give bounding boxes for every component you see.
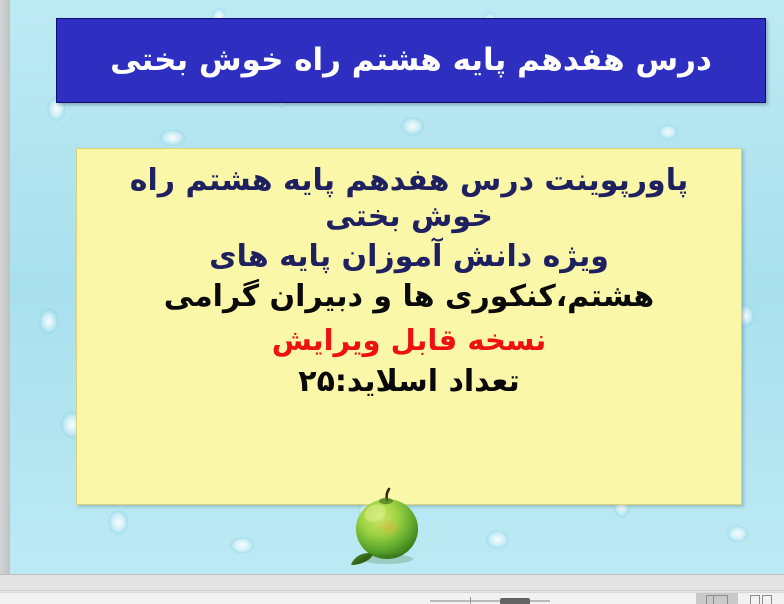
slide[interactable]: درس هفدهم پایه هشتم راه خوش بختی پاورپوی…	[10, 0, 784, 574]
slide-sorter-view-button[interactable]	[740, 593, 782, 604]
zoom-slider-track[interactable]	[430, 600, 550, 602]
presentation-window: درس هفدهم پایه هشتم راه خوش بختی پاورپوی…	[0, 0, 784, 604]
slide-sorter-view-icon	[750, 595, 772, 604]
zoom-slider[interactable]	[430, 597, 550, 604]
normal-view-button[interactable]	[696, 593, 738, 604]
body-line-2: خوش بختی	[95, 199, 723, 235]
body-line-slide-count: تعداد اسلاید:۲۵	[95, 364, 723, 400]
slide-canvas-area: درس هفدهم پایه هشتم راه خوش بختی پاورپوی…	[0, 0, 784, 574]
normal-view-icon	[706, 595, 728, 604]
body-line-3: ویژه دانش آموزان پایه های	[95, 239, 723, 275]
view-mode-buttons	[696, 593, 782, 604]
body-line-editable-notice: نسخه قابل ویرایش	[95, 323, 723, 358]
green-apple-icon	[345, 487, 429, 567]
slide-title-text: درس هفدهم پایه هشتم راه خوش بختی	[110, 43, 712, 79]
zoom-slider-handle[interactable]	[500, 598, 530, 604]
status-bar	[0, 574, 784, 604]
status-bar-upper	[0, 575, 784, 591]
body-line-1: پاورپوینت درس هفدهم پایه هشتم راه	[95, 163, 723, 199]
status-bar-lower	[0, 592, 784, 604]
status-bar-divider	[0, 590, 784, 591]
slide-title-box[interactable]: درس هفدهم پایه هشتم راه خوش بختی	[56, 18, 766, 103]
slide-body-box[interactable]: پاورپوینت درس هفدهم پایه هشتم راه خوش بخ…	[76, 148, 742, 505]
zoom-slider-tick	[470, 597, 471, 604]
canvas-left-gutter	[0, 0, 10, 574]
body-line-4: هشتم،کنکوری ها و دبیران گرامی	[95, 279, 723, 315]
